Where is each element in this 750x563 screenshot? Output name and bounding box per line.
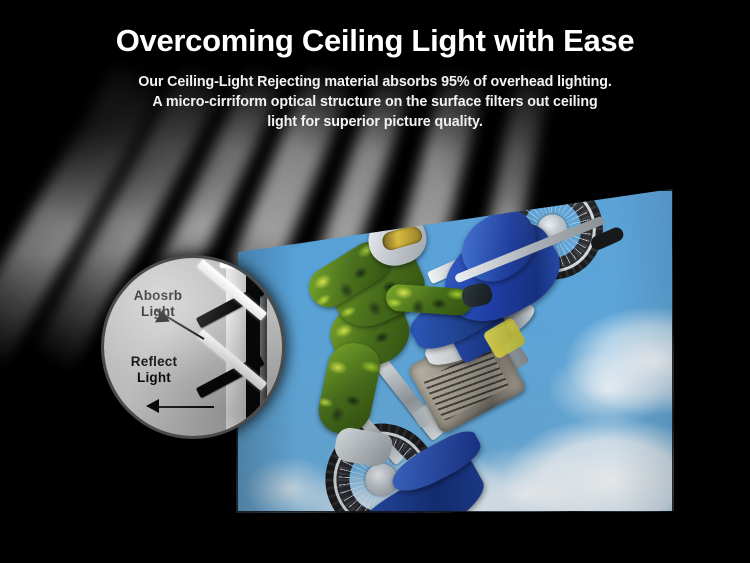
reflect-light-label: Reflect Light (114, 354, 194, 387)
promo-banner: Abosrb Light Reflect Light Overcoming Ce… (0, 0, 750, 563)
boot-strap (294, 210, 339, 233)
screen-substrate-edge (260, 258, 267, 436)
subcopy-line-1: Our Ceiling-Light Rejecting material abs… (0, 72, 750, 92)
projector-screen (236, 189, 674, 513)
motocross-scene (236, 189, 674, 513)
optical-structure-magnifier: Abosrb Light Reflect Light (104, 258, 282, 436)
subcopy-line-2: A micro-cirriform optical structure on t… (0, 92, 750, 112)
rider-boot-upper (273, 189, 347, 246)
absorb-label-line-1: Abosrb (120, 288, 196, 304)
page-title: Overcoming Ceiling Light with Ease (0, 24, 750, 59)
reflect-label-line-2: Light (114, 370, 194, 386)
page-subcopy: Our Ceiling-Light Rejecting material abs… (0, 72, 750, 133)
reflect-light-arrow-icon (146, 399, 159, 413)
text-block: Overcoming Ceiling Light with Ease Our C… (0, 0, 750, 133)
absorb-light-label: Abosrb Light (120, 288, 196, 321)
reflect-label-line-1: Reflect (114, 354, 194, 370)
reflect-light-arrow-shaft (150, 406, 214, 408)
subcopy-line-3: light for superior picture quality. (0, 112, 750, 132)
absorb-label-line-2: Light (120, 304, 196, 320)
boot-strap (290, 199, 339, 223)
